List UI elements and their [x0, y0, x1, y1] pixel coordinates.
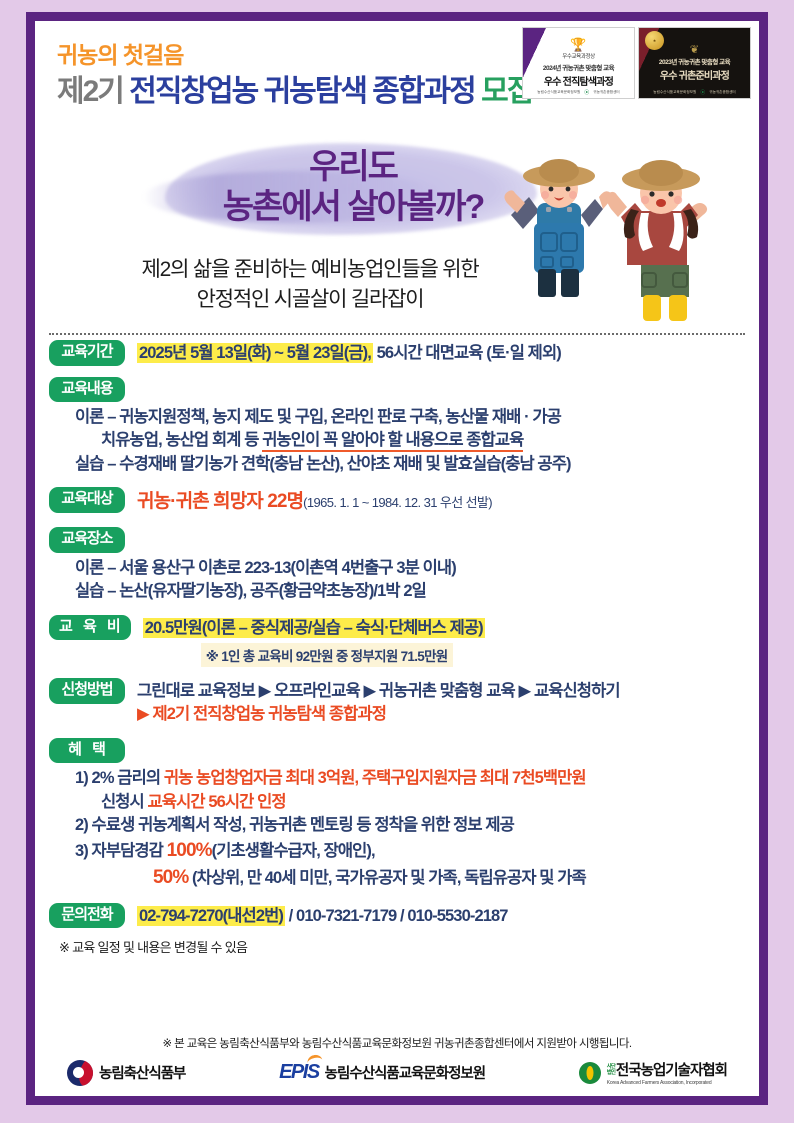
- logo-kafa-label: 사단법인전국농업기술자협회 Korea Advanced Farmers Ass…: [607, 1059, 727, 1086]
- title-part1: 제2기: [57, 75, 123, 108]
- wreath-icon: ❦: [690, 45, 699, 56]
- benefit-3-pct: 100%: [167, 840, 212, 861]
- benefit-item-3-line2: 50% (차상위, 만 40세 미만, 국가유공자 및 가족, 독립유공자 및 …: [75, 865, 745, 892]
- section-place: 교육장소 이론 – 서울 용산구 이촌로 223-13(이촌역 4번출구 3분 …: [49, 527, 745, 603]
- logo-kafa: 사단법인전국농업기술자협회 Korea Advanced Farmers Ass…: [579, 1059, 727, 1086]
- award-foot-right-2: 귀농귀촌종합센터: [709, 90, 735, 95]
- kafa-emblem-icon: [579, 1062, 601, 1084]
- subtitle-line-2: 안정적인 시골살이 길라잡이: [75, 285, 545, 315]
- benefit-1-l2-pre: 신청시: [101, 793, 148, 811]
- section-contact: 문의전화 02-794-7270(내선2번) / 010-7321-7179 /…: [49, 903, 745, 929]
- benefit-item-2: 2) 수료생 귀농계획서 작성, 귀농귀촌 멘토링 등 정착을 위한 정보 제공: [75, 814, 745, 837]
- fee-highlight: 20.5만원(이론 – 중식제공/실습 – 숙식·단체버스 제공): [143, 618, 485, 638]
- section-fee: 교 육 비 20.5만원(이론 – 중식제공/실습 – 숙식·단체버스 제공) …: [49, 615, 745, 667]
- trophy-icon: 🏆: [570, 38, 586, 51]
- leaf-icon: ⦿: [584, 89, 589, 96]
- ribbon-icon: ★: [645, 31, 664, 50]
- fee-note: ※ 1인 총 교육비 92만원 중 정부지원 71.5만원: [201, 643, 453, 667]
- kafa-sub: Korea Advanced Farmers Association, Inco…: [607, 1080, 727, 1086]
- section-period: 교육기간 2025년 5월 13일(화) ~ 5월 23일(금), 56시간 대…: [49, 340, 745, 366]
- hero-line-1: 우리도: [153, 147, 553, 187]
- award-foot-left-2: 농림수산식품교육문화정보원: [653, 90, 696, 95]
- contact-body: 02-794-7270(내선2번) / 010-7321-7179 / 010-…: [137, 903, 508, 928]
- section-content: 교육내용 이론 – 귀농지원정책, 농지 제도 및 구입, 온라인 판로 구축,…: [49, 377, 745, 477]
- poster-header: 귀농의 첫걸음 제2기 전직창업농 귀농탐색 종합과정 모집 🏆 우수교육과정상…: [35, 21, 759, 137]
- award-mid-2: 2023년 귀농귀촌 맞춤형 교육: [659, 56, 730, 66]
- award-foot-right-1: 귀농귀촌종합센터: [593, 90, 619, 95]
- target-body: 귀농·귀촌 희망자 22명(1965. 1. 1 ~ 1984. 12. 31 …: [137, 487, 492, 516]
- theory-text-1: 귀농지원정책, 농지 제도 및 구입, 온라인 판로 구축, 농산물 재배 · …: [116, 408, 561, 426]
- girl-farmer-icon: [606, 160, 707, 321]
- benefit-3-pre: 3) 자부담경감: [75, 842, 167, 860]
- tag-apply: 신청방법: [49, 678, 125, 704]
- contact-line: 02-794-7270(내선2번) / 010-7321-7179 / 010-…: [137, 905, 508, 928]
- benefit-3-l2-pct: 50%: [153, 867, 188, 888]
- period-body: 2025년 5월 13일(화) ~ 5월 23일(금), 56시간 대면교육 (…: [137, 340, 561, 365]
- tag-fee: 교 육 비: [49, 615, 131, 641]
- epis-wordmark-icon: EPIS: [279, 1061, 319, 1084]
- section-benefit: 혜 택 1) 2% 금리의 귀농 농업창업자금 최대 3억원, 주택구입지원자금…: [49, 738, 745, 892]
- content-theory-line-2: 치유농업, 농산업 회계 등 귀농인이 꼭 알아야 할 내용으로 종합교육: [75, 429, 745, 452]
- section-target: 교육대상 귀농·귀촌 희망자 22명(1965. 1. 1 ~ 1984. 12…: [49, 487, 745, 516]
- place-line-1: 이론 – 서울 용산구 이촌로 223-13(이촌역 4번출구 3분 이내): [75, 557, 745, 580]
- award-big-1: 우수 전직탐색과정: [544, 73, 613, 88]
- title-part2: 전직창업농 귀농탐색 종합과정: [129, 75, 474, 108]
- benefit-item-3: 3) 자부담경감 100%(기초생활수급자, 장애인),: [75, 838, 745, 865]
- logo-mafra-label: 농림축산식품부: [99, 1062, 185, 1083]
- tag-content: 교육내용: [49, 377, 125, 403]
- award-certificate-2023: ★ ❦ 2023년 귀농귀촌 맞춤형 교육 우수 귀촌준비과정 농림수산식품교육…: [638, 27, 751, 99]
- theory-text-2-underline: 귀농인이 꼭 알아야 할 내용으로 종합교육: [262, 431, 523, 452]
- target-line: 귀농·귀촌 희망자 22명(1965. 1. 1 ~ 1984. 12. 31 …: [137, 489, 492, 516]
- content-practice-line: 실습 – 수경재배 딸기농가 견학(충남 논산), 산야초 재배 및 발효실습(…: [75, 453, 745, 476]
- apply-line-1: 그린대로 교육정보 ▶ 오프라인교육 ▶ 귀농귀촌 맞춤형 교육 ▶ 교육신청하…: [137, 680, 620, 703]
- tag-place: 교육장소: [49, 527, 125, 553]
- target-main: 귀농·귀촌 희망자 22명: [137, 491, 303, 512]
- theory-text-2-pre: 치유농업, 농산업 회계 등: [101, 431, 262, 449]
- poster-body: 교육기간 2025년 5월 13일(화) ~ 5월 23일(금), 56시간 대…: [35, 340, 759, 956]
- hero-headline: 우리도 농촌에서 살아볼까?: [153, 147, 553, 227]
- period-highlight: 2025년 5월 13일(화) ~ 5월 23일(금),: [137, 343, 373, 363]
- kafa-name: 전국농업기술자협회: [616, 1063, 727, 1079]
- logo-row: 농림축산식품부 EPIS 농림수산식품교육문화정보원 사단법인전국농업기술자협회…: [53, 1059, 741, 1086]
- place-body: 이론 – 서울 용산구 이촌로 223-13(이촌역 4번출구 3분 이내) 실…: [49, 557, 745, 604]
- hero-subtitle: 제2의 삶을 준비하는 예비농업인들을 위한 안정적인 시골살이 길라잡이: [75, 255, 545, 316]
- poster-inner: 귀농의 첫걸음 제2기 전직창업농 귀농탐색 종합과정 모집 🏆 우수교육과정상…: [35, 21, 759, 1096]
- fee-line: 20.5만원(이론 – 중식제공/실습 – 숙식·단체버스 제공): [143, 617, 485, 640]
- hero-section: 우리도 농촌에서 살아볼까?: [35, 137, 759, 329]
- benefit-item-1: 1) 2% 금리의 귀농 농업창업자금 최대 3억원, 주택구입지원자금 최대 …: [75, 767, 745, 790]
- content-body: 이론 – 귀농지원정책, 농지 제도 및 구입, 온라인 판로 구축, 농산물 …: [49, 406, 745, 476]
- content-theory-line-1: 이론 – 귀농지원정책, 농지 제도 및 구입, 온라인 판로 구축, 농산물 …: [75, 406, 745, 429]
- benefit-body: 1) 2% 금리의 귀농 농업창업자금 최대 3억원, 주택구입지원자금 최대 …: [49, 767, 745, 891]
- subtitle-line-1: 제2의 삶을 준비하는 예비농업인들을 위한: [75, 255, 545, 285]
- practice-text: 수경재배 딸기농가 견학(충남 논산), 산야초 재배 및 발효실습(충남 공주…: [116, 455, 571, 473]
- leaf-icon: ⦿: [700, 89, 705, 96]
- award-footer-1: 농림수산식품교육문화정보원 ⦿ 귀농귀촌종합센터: [523, 89, 634, 96]
- award-foot-left-1: 농림수산식품교육문화정보원: [537, 90, 580, 95]
- logo-epis-label: 농림수산식품교육문화정보원: [325, 1062, 485, 1083]
- practice-label: 실습 –: [75, 455, 116, 473]
- tag-target: 교육대상: [49, 487, 125, 513]
- award-certificate-2024: 🏆 우수교육과정상 2024년 귀농귀촌 맞춤형 교육 우수 전직탐색과정 농림…: [522, 27, 635, 99]
- contact-rest[interactable]: / 010-7321-7179 / 010-5530-2187: [285, 907, 508, 925]
- benefit-1-l2-red: 교육시간 56시간 인정: [148, 793, 286, 811]
- place-line-2: 실습 – 논산(유자딸기농장), 공주(황금약초농장)/1박 2일: [75, 580, 745, 603]
- award-sub-1: 우수교육과정상: [562, 52, 595, 60]
- award-footer-2: 농림수산식품교육문화정보원 ⦿ 귀농귀촌종합센터: [639, 89, 750, 96]
- contact-highlight[interactable]: 02-794-7270(내선2번): [137, 906, 285, 926]
- change-note: ※ 교육 일정 및 내용은 변경될 수 있음: [59, 937, 745, 956]
- logo-epis: EPIS 농림수산식품교육문화정보원: [279, 1061, 485, 1084]
- logo-mafra: 농림축산식품부: [67, 1060, 185, 1086]
- fee-body: 20.5만원(이론 – 중식제공/실습 – 숙식·단체버스 제공) ※ 1인 총…: [143, 615, 485, 667]
- mafra-emblem-icon: [67, 1060, 93, 1086]
- period-rest: 56시간 대면교육 (토·일 제외): [373, 344, 561, 362]
- tag-benefit: 혜 택: [49, 738, 125, 764]
- poster-footer: ※ 본 교육은 농림축산식품부와 농림수산식품교육문화정보원 귀농귀촌종합센터에…: [35, 1035, 759, 1086]
- benefit-1-pre: 1) 2% 금리의: [75, 769, 164, 787]
- dotted-divider: [49, 333, 745, 335]
- benefit-3-l2-post: (차상위, 만 40세 미만, 국가유공자 및 가족, 독립유공자 및 가족: [188, 869, 585, 887]
- tag-period: 교육기간: [49, 340, 125, 366]
- award-big-2: 우수 귀촌준비과정: [660, 67, 729, 82]
- theory-label: 이론 –: [75, 408, 116, 426]
- poster-frame: 귀농의 첫걸음 제2기 전직창업농 귀농탐색 종합과정 모집 🏆 우수교육과정상…: [26, 12, 768, 1105]
- benefit-item-1-line2: 신청시 교육시간 56시간 인정: [75, 791, 745, 814]
- support-note: ※ 본 교육은 농림축산식품부와 농림수산식품교육문화정보원 귀농귀촌종합센터에…: [53, 1035, 741, 1051]
- hero-line-2: 농촌에서 살아볼까?: [153, 187, 553, 227]
- benefit-1-red: 귀농 농업창업자금 최대 3억원, 주택구입지원자금 최대 7천5백만원: [164, 769, 586, 787]
- apply-line-2: ▶ 제2기 전직창업농 귀농탐색 종합과정: [137, 703, 620, 726]
- tag-contact: 문의전화: [49, 903, 125, 929]
- target-paren: (1965. 1. 1 ~ 1984. 12. 31 우선 선발): [303, 495, 492, 510]
- period-line: 2025년 5월 13일(화) ~ 5월 23일(금), 56시간 대면교육 (…: [137, 342, 561, 365]
- section-apply: 신청방법 그린대로 교육정보 ▶ 오프라인교육 ▶ 귀농귀촌 맞춤형 교육 ▶ …: [49, 678, 745, 727]
- award-mid-1: 2024년 귀농귀촌 맞춤형 교육: [543, 62, 614, 72]
- benefit-3-post: (기초생활수급자, 장애인),: [212, 842, 375, 860]
- award-badges: 🏆 우수교육과정상 2024년 귀농귀촌 맞춤형 교육 우수 전직탐색과정 농림…: [522, 27, 751, 99]
- kafa-prefix: 사단법인: [607, 1065, 615, 1077]
- apply-body: 그린대로 교육정보 ▶ 오프라인교육 ▶ 귀농귀촌 맞춤형 교육 ▶ 교육신청하…: [137, 678, 620, 727]
